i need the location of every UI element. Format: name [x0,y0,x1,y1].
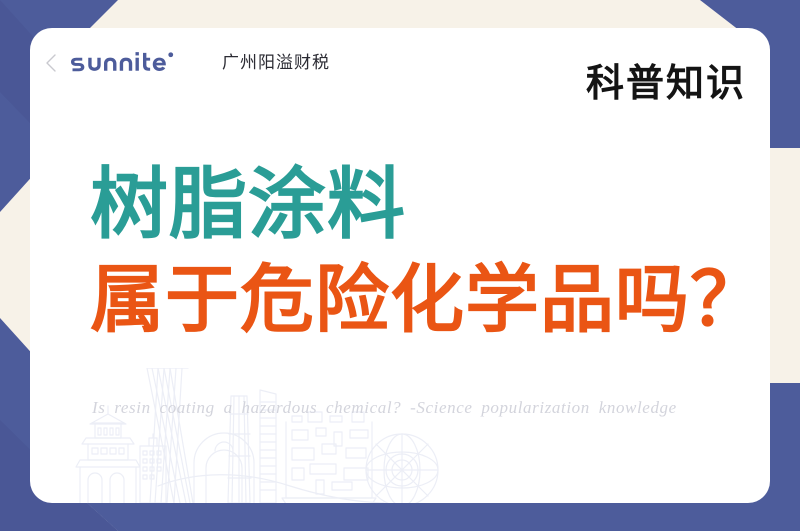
subtitle-text: Is resin coating a hazardous chemical? -… [92,398,770,418]
headline-line-1: 树脂涂料 [90,163,750,247]
guangzhou-skyline-watermark [54,368,444,503]
sunnite-wordmark-icon [68,51,203,75]
brand-name-label: 广州阳溢财税 [222,51,330,75]
content-card: 广州阳溢财税 科普知识 树脂涂料 属于危险化学品吗？ Is resin coat… [30,28,770,503]
category-tag: 科普知识 [586,64,746,102]
poster-canvas: 广州阳溢财税 科普知识 树脂涂料 属于危险化学品吗？ Is resin coat… [0,0,800,531]
chevron-left-icon[interactable] [44,53,58,73]
headline-line-2: 属于危险化学品吗？ [90,261,750,341]
brand-logo[interactable] [68,51,203,75]
header-bar: 广州阳溢财税 [44,46,330,80]
headline-block: 树脂涂料 属于危险化学品吗？ [90,163,750,341]
